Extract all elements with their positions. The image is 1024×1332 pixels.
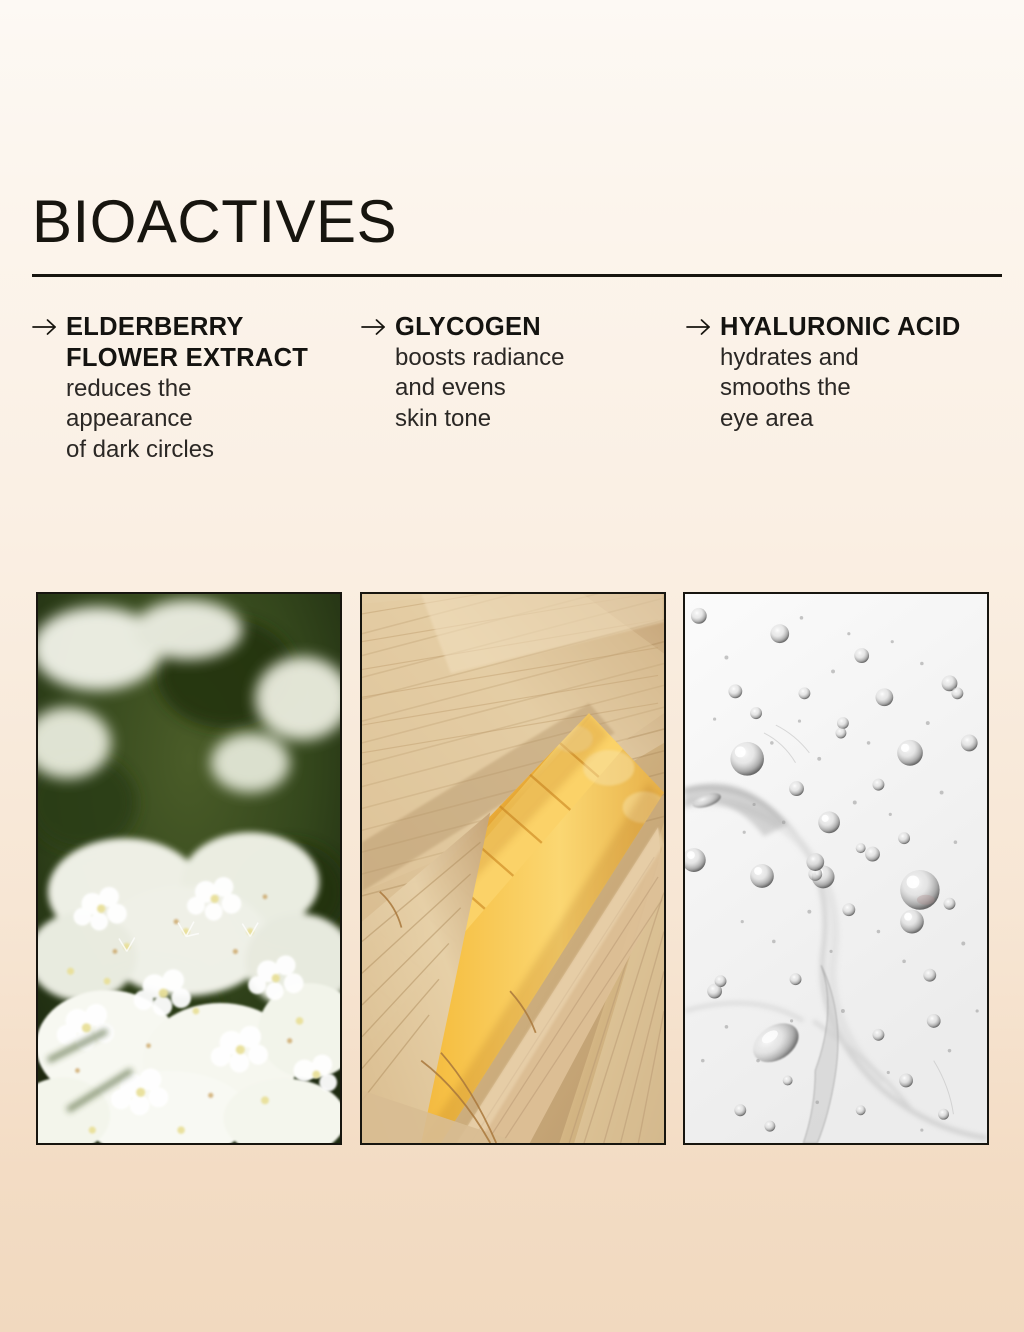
page-title: BIOACTIVES: [32, 192, 1002, 252]
corn-cob-photo: [360, 592, 666, 1145]
ingredient-item-elderberry-flower-extract: ELDERBERRY FLOWER EXTRACT reduces the ap…: [32, 312, 361, 465]
ingredient-text: GLYCOGEN boosts radiance and evens skin …: [395, 312, 686, 434]
ingredient-text: ELDERBERRY FLOWER EXTRACT reduces the ap…: [66, 312, 361, 465]
arrow-right-icon: [686, 312, 720, 337]
ingredient-name: GLYCOGEN: [395, 312, 686, 343]
arrow-right-icon: [32, 312, 66, 337]
ingredient-name: HYALURONIC ACID: [720, 312, 1002, 343]
ingredient-item-glycogen: GLYCOGEN boosts radiance and evens skin …: [361, 312, 686, 434]
ingredient-list: ELDERBERRY FLOWER EXTRACT reduces the ap…: [32, 312, 1002, 465]
ingredient-name: ELDERBERRY FLOWER EXTRACT: [66, 312, 361, 374]
heading-divider: [32, 274, 1002, 277]
ingredient-image-row: [36, 592, 989, 1145]
ingredient-item-hyaluronic-acid: HYALURONIC ACID hydrates and smooths the…: [686, 312, 1002, 434]
ingredient-benefit: reduces the appearance of dark circles: [66, 374, 361, 465]
ingredient-text: HYALURONIC ACID hydrates and smooths the…: [720, 312, 1002, 434]
ingredient-benefit: boosts radiance and evens skin tone: [395, 343, 686, 434]
section-heading: BIOACTIVES: [32, 192, 1002, 277]
bioactives-infographic: BIOACTIVES ELDERBERRY FLOWER EXTRACT red…: [0, 0, 1024, 1332]
arrow-right-icon: [361, 312, 395, 337]
elderberry-flower-photo: [36, 592, 342, 1145]
hyaluronic-gel-photo: [683, 592, 989, 1145]
ingredient-benefit: hydrates and smooths the eye area: [720, 343, 1002, 434]
